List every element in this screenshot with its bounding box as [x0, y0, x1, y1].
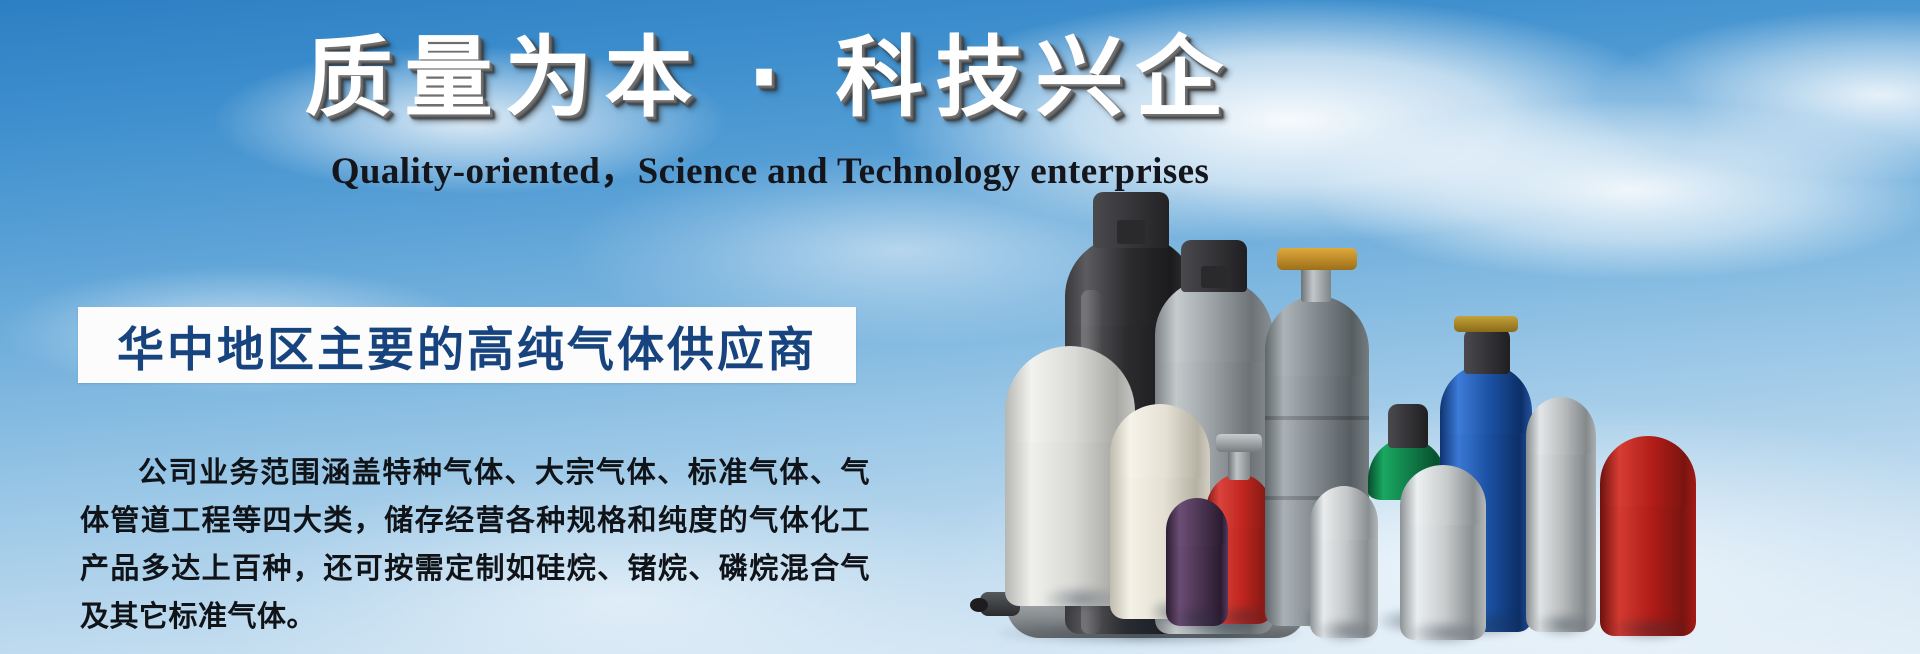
- cylinder-red-large: [1600, 436, 1696, 636]
- cylinder-aluminium-2: [1400, 465, 1486, 640]
- tagline-box: 华中地区主要的高纯气体供应商: [78, 307, 856, 383]
- cylinder-steel-plain: [1526, 397, 1596, 632]
- cylinder-purple-small: [1166, 498, 1228, 626]
- description-paragraph: 公司业务范围涵盖特种气体、大宗气体、标准气体、气体管道工程等四大类，储存经营各种…: [80, 448, 870, 640]
- gas-cylinder-group-image: [970, 94, 1920, 654]
- promotional-banner: 质量为本 · 科技兴企 Quality-oriented，Science and…: [0, 0, 1920, 654]
- tagline-text: 华中地区主要的高纯气体供应商: [117, 311, 817, 380]
- cylinder-aluminium: [1310, 486, 1378, 638]
